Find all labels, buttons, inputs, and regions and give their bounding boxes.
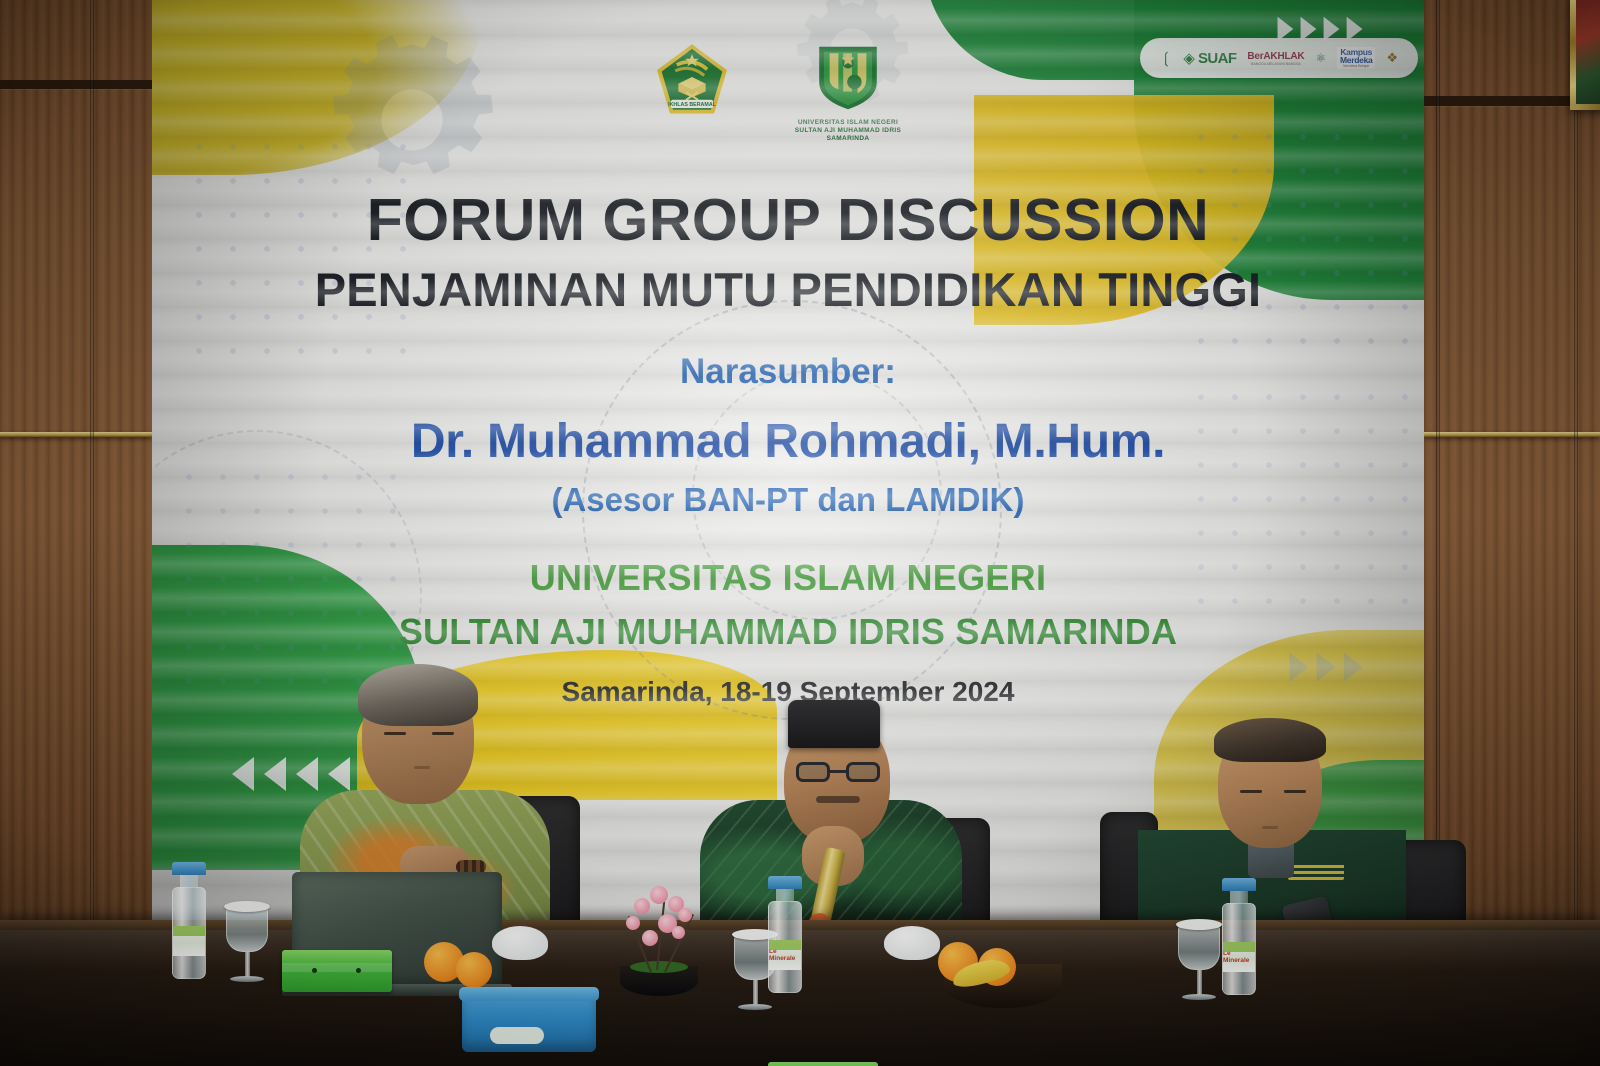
- water-bottle-left: [172, 862, 206, 979]
- speaker-role: (Asesor BAN-PT dan LAMDIK): [152, 481, 1424, 519]
- wood-wall-left: [0, 0, 152, 1066]
- kampus-merdeka-logo: Kampus Merdeka Merdeka Belajar: [1337, 47, 1375, 69]
- bangga-melayani-icon: ⚛: [1315, 51, 1326, 65]
- bottle-brand-right: Le Minerale: [1223, 950, 1255, 964]
- participant-left-hair: [358, 664, 478, 726]
- water-goblet-right: [1178, 926, 1220, 1000]
- tissue-puff-center: [884, 926, 940, 960]
- speaker-label: Narasumber:: [152, 352, 1424, 392]
- water-bottle-center: Le Minerale: [768, 876, 802, 993]
- flower-vase: [620, 966, 698, 996]
- orange-fruit-left-2: [456, 952, 492, 988]
- uin-logo: UNIVERSITAS ISLAM NEGERI SULTAN AJI MUHA…: [773, 42, 923, 143]
- uin-caption-line2: SULTAN AJI MUHAMMAD IDRIS: [795, 127, 902, 135]
- green-snack-box-center: [768, 1062, 878, 1066]
- framed-portrait-gold: [1570, 0, 1600, 110]
- jacket-embroidery: [1288, 862, 1344, 880]
- institution-line-1: UNIVERSITAS ISLAM NEGERI: [152, 557, 1424, 599]
- peci-cap: [788, 700, 880, 748]
- kemenag-logo: IKHLAS BERAMAL: [653, 42, 731, 118]
- green-snack-box-left: [282, 950, 392, 992]
- participant-right-hair: [1214, 718, 1326, 762]
- tissue-box-blue-left: [462, 994, 596, 1052]
- suaf-logo: ◈ SUAF: [1183, 49, 1236, 67]
- kemenag-motto: IKHLAS BERAMAL: [668, 102, 717, 108]
- berakhlak-logo: BerAKHLAK BANGGA MELAYANI BANGSA: [1247, 51, 1304, 66]
- uin-caption-line3: SAMARINDA: [795, 135, 902, 143]
- institution-line-2: SULTAN AJI MUHAMMAD IDRIS SAMARINDA: [152, 611, 1424, 653]
- banner-headline-1: FORUM GROUP DISCUSSION: [152, 186, 1424, 254]
- location-date: Samarinda, 18-19 September 2024: [152, 676, 1424, 708]
- tissue-puff-left: [492, 926, 548, 960]
- chevron-arrows-left: [232, 757, 350, 791]
- uin-caption-line1: UNIVERSITAS ISLAM NEGERI: [795, 119, 902, 127]
- water-goblet-left: [226, 908, 268, 982]
- banner-headline-2: PENJAMINAN MUTU PENDIDIKAN TINGGI: [152, 262, 1424, 317]
- bottle-brand-center: Le Minerale: [769, 948, 801, 962]
- event-photo-scene: IKHLAS BERAMAL UNIVERSITAS ISLAM NEGERI …: [0, 0, 1600, 1066]
- partner-logo-strip: ❲ ◈ SUAF BerAKHLAK BANGGA MELAYANI BANGS…: [1140, 38, 1418, 78]
- merdeka-belajar-icon: ❖: [1386, 50, 1398, 66]
- uin-small-icon: ❲: [1160, 49, 1173, 67]
- speaker-name: Dr. Muhammad Rohmadi, M.Hum.: [152, 414, 1424, 469]
- glasses: [796, 762, 880, 782]
- water-bottle-right: Le Minerale: [1222, 878, 1256, 995]
